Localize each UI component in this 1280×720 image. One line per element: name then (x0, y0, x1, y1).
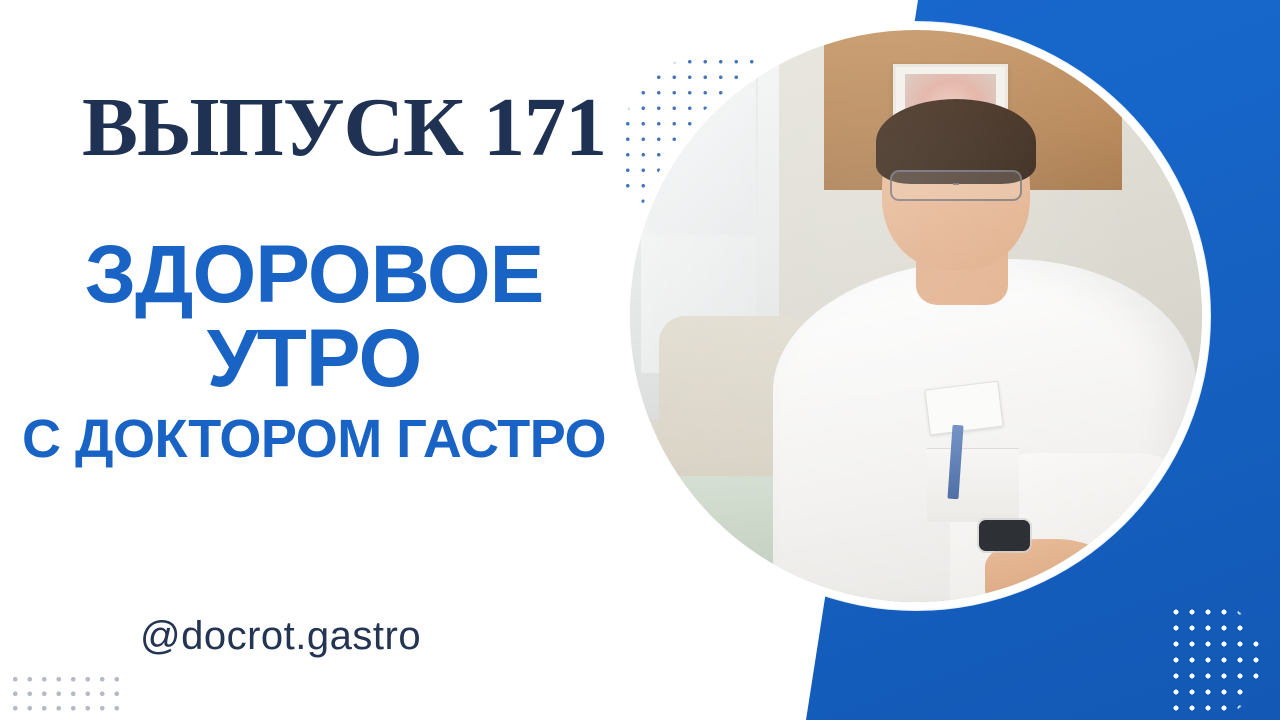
eyeglasses-icon (890, 170, 1022, 201)
headline-line-3: С ДОКТОРОМ ГАСТРО (0, 414, 628, 465)
headline-line-1: ЗДОРОВОЕ (0, 236, 628, 314)
issue-number-title: ВЫПУСК 171 (82, 86, 606, 170)
page-title: ЗДОРОВОЕ УТРО С ДОКТОРОМ ГАСТРО (0, 236, 628, 465)
headline-line-2: УТРО (0, 320, 628, 398)
portrait-scene (630, 30, 1202, 602)
white-dot-circle-pattern-icon (1168, 604, 1280, 720)
coat-pocket (927, 448, 1019, 522)
doctor-portrait (630, 30, 1202, 602)
grey-dot-grid-icon (8, 672, 120, 716)
wristwatch-icon (979, 520, 1030, 551)
social-handle: @docrot.gastro (140, 614, 421, 659)
name-badge (925, 380, 1004, 434)
slide-canvas: ВЫПУСК 171 ЗДОРОВОЕ УТРО С ДОКТОРОМ ГАСТ… (0, 0, 1280, 720)
